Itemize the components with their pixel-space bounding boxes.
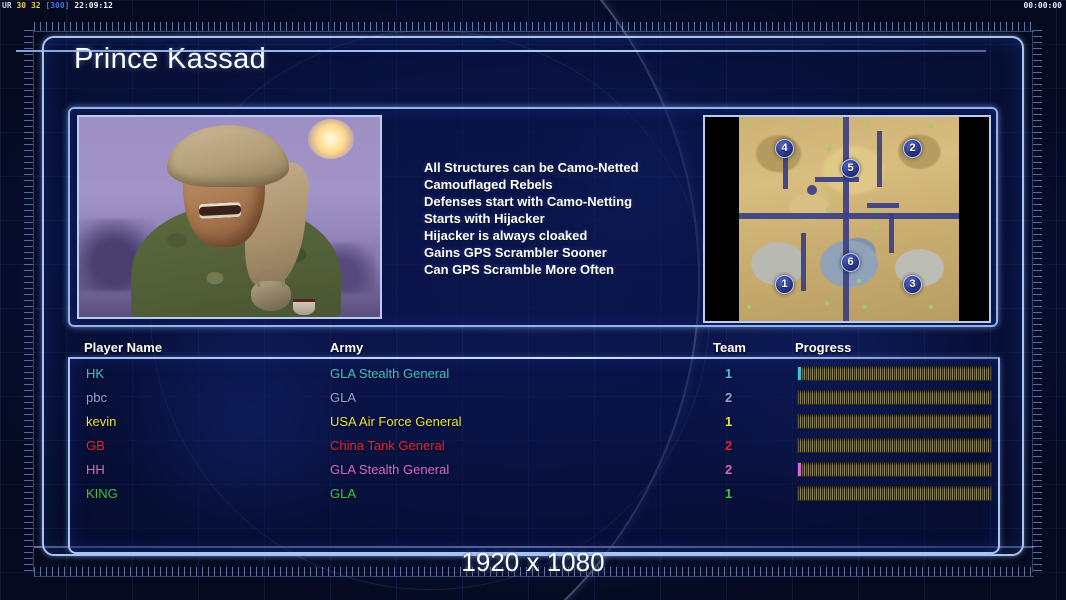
map-road [889, 213, 894, 253]
map-tree [801, 121, 805, 125]
cell-team: 1 [725, 362, 732, 386]
map-tree [873, 225, 877, 229]
progress-bar [797, 390, 992, 405]
cell-player-name: kevin [86, 410, 116, 434]
table-row[interactable]: pbcGLA2 [68, 386, 1000, 410]
frame-ruler-left [24, 30, 33, 572]
ability-line: Starts with Hijacker [424, 210, 694, 227]
cell-army: China Tank General [330, 434, 445, 458]
progress-bar-marker [798, 367, 801, 380]
table-row[interactable]: kevinUSA Air Force General1 [68, 410, 1000, 434]
progress-bar [797, 438, 992, 453]
cell-team: 2 [725, 386, 732, 410]
cell-player-name: pbc [86, 386, 107, 410]
ability-line: Can GPS Scramble More Often [424, 261, 694, 278]
header-team: Team [713, 340, 746, 355]
map-tree [865, 123, 869, 127]
map-tree [825, 207, 829, 211]
map-tree [929, 124, 933, 128]
ability-line: Camouflaged Rebels [424, 176, 694, 193]
progress-bar [797, 366, 992, 381]
portrait-headwrap [167, 125, 289, 187]
header-progress: Progress [795, 340, 851, 355]
hud-top-bar: UR 30 32 [300] 22:09:12 00:00:00 [0, 0, 1066, 13]
players-header-divider [68, 357, 1000, 359]
cell-army: USA Air Force General [330, 410, 462, 434]
cell-player-name: HH [86, 458, 105, 482]
map-tree [825, 301, 829, 305]
cell-army: GLA [330, 482, 356, 506]
header-army: Army [330, 340, 363, 355]
general-portrait [77, 115, 382, 319]
frame-ruler-top [34, 22, 1034, 31]
title-bar: Prince Kassad [44, 38, 1022, 86]
progress-bar-marker [798, 463, 801, 476]
map-preview[interactable]: 4 2 5 1 6 3 [703, 115, 991, 323]
frame-ruler-right [1033, 30, 1042, 572]
map-tree [827, 147, 831, 151]
cell-player-name: KING [86, 482, 118, 506]
hud-seg-3: [300] [45, 1, 69, 10]
frame-rule-right [1032, 30, 1033, 572]
cell-army: GLA Stealth General [330, 362, 449, 386]
map-road [843, 117, 849, 321]
page-title: Prince Kassad [74, 43, 266, 76]
ability-line: Gains GPS Scrambler Sooner [424, 244, 694, 261]
portrait-teapot [251, 281, 291, 311]
progress-bar [797, 486, 992, 501]
frame-rule-left [33, 30, 34, 572]
ability-list: All Structures can be Camo-Netted Camouf… [424, 159, 694, 278]
map-terrain: 4 2 5 1 6 3 [739, 117, 959, 321]
map-tree [747, 305, 751, 309]
map-spawn-marker: 1 [775, 275, 794, 294]
map-tree [863, 305, 867, 309]
table-row[interactable]: HHGLA Stealth General2 [68, 458, 1000, 482]
ability-line: Hijacker is always cloaked [424, 227, 694, 244]
portrait-sun [308, 119, 354, 159]
map-tree [873, 209, 877, 213]
cell-player-name: GB [86, 434, 105, 458]
progress-bar [797, 414, 992, 429]
map-spawn-marker: 2 [903, 139, 922, 158]
frame-rule-top [34, 31, 1034, 32]
hud-seg-0: UR [2, 1, 12, 10]
hud-seg-2: 32 [31, 1, 41, 10]
cell-team: 1 [725, 482, 732, 506]
title-divider [16, 50, 986, 52]
ability-line: Defenses start with Camo-Netting [424, 193, 694, 210]
table-row[interactable]: KINGGLA1 [68, 482, 1000, 506]
map-spawn-marker: 6 [841, 253, 860, 272]
map-road [877, 131, 882, 187]
table-row[interactable]: GBChina Tank General2 [68, 434, 1000, 458]
resolution-label: 1920 x 1080 [0, 547, 1066, 578]
map-tree [835, 122, 839, 126]
portrait-cup [293, 299, 315, 315]
cell-army: GLA [330, 386, 356, 410]
header-player-name: Player Name [84, 340, 162, 355]
portrait-mouth [199, 202, 242, 219]
hud-seg-1: 30 [16, 1, 26, 10]
hud-debug-text: UR 30 32 [300] 22:09:12 [2, 1, 113, 10]
cell-army: GLA Stealth General [330, 458, 449, 482]
map-spawn-marker: 5 [841, 159, 860, 178]
map-road [739, 213, 959, 219]
map-tree [747, 123, 751, 127]
map-road [801, 233, 806, 291]
hud-seg-4: 22:09:12 [74, 1, 113, 10]
map-tree [857, 279, 861, 283]
cell-player-name: HK [86, 362, 104, 386]
map-spawn-marker: 3 [903, 275, 922, 294]
table-row[interactable]: HKGLA Stealth General1 [68, 362, 1000, 386]
map-spawn-marker: 4 [775, 139, 794, 158]
map-lake [807, 185, 817, 195]
hud-timer: 00:00:00 [1023, 1, 1062, 10]
ability-line: All Structures can be Camo-Netted [424, 159, 694, 176]
map-road [867, 203, 899, 208]
cell-team: 2 [725, 458, 732, 482]
cell-team: 1 [725, 410, 732, 434]
game-lobby-screen: UR 30 32 [300] 22:09:12 00:00:00 Prince … [0, 0, 1066, 600]
cell-team: 2 [725, 434, 732, 458]
players-table-body: HKGLA Stealth General1pbcGLA2kevinUSA Ai… [68, 362, 1000, 506]
map-tree [929, 305, 933, 309]
progress-bar [797, 462, 992, 477]
